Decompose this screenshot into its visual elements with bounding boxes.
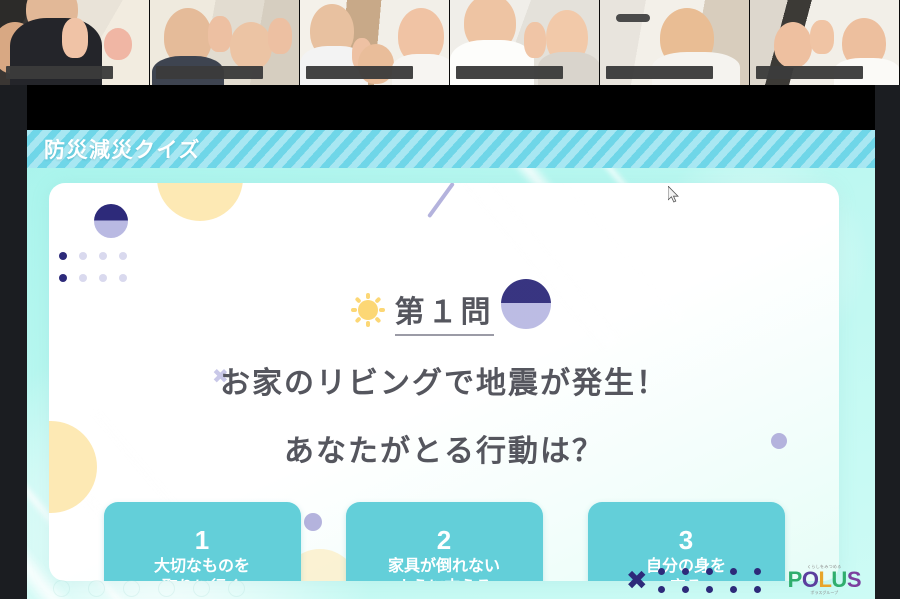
tile-5-ceiling-fan (616, 14, 650, 22)
answer-option-1[interactable]: 1 大切なものを 取りに行く (104, 502, 301, 581)
polus-logo: くらしをみつめる POLUS ポラスグループ (788, 565, 861, 595)
slide-content-card: ✖ 第１問 (49, 183, 839, 581)
grid-dot (119, 252, 127, 260)
polus-logo-subtitle: ポラスグループ (810, 591, 838, 595)
faint-icon-row (53, 580, 245, 597)
tile-4-peace-hand (524, 22, 546, 58)
faint-icon-3 (123, 580, 140, 597)
tile-6-person-a (774, 22, 812, 68)
footer-dot-grid (658, 568, 778, 593)
answer-1-line-1: 大切なものを (154, 556, 250, 577)
tile-5-name-bar (606, 66, 713, 79)
question-number-label: 第１問 (395, 287, 494, 336)
answer-2-number: 2 (437, 527, 451, 554)
participant-tile-2[interactable] (150, 0, 300, 85)
yellow-blob-top (157, 183, 243, 221)
question-line-2: あなたがとる行動は？ (49, 426, 839, 470)
faint-icon-4 (158, 580, 175, 597)
tile-6-name-bar (756, 66, 863, 79)
polus-letter-l: L (818, 567, 831, 592)
participant-tile-3[interactable] (300, 0, 450, 85)
participant-tile-6[interactable] (750, 0, 900, 85)
polus-letter-o: O (802, 567, 819, 592)
tile-2-peace-hand-b (268, 18, 292, 54)
polus-logo-word: POLUS (788, 569, 861, 591)
half-circle-decoration (94, 204, 128, 238)
answer-1-text: 大切なものを 取りに行く (154, 556, 250, 581)
tile-3-name-bar (306, 66, 413, 79)
participant-tile-1[interactable] (0, 0, 150, 85)
mouse-cursor-icon (668, 186, 680, 204)
faint-icon-1 (53, 580, 70, 597)
slide-banner: 防災減災クイズ (27, 130, 875, 168)
slide-footer: ✖ くらしをみつめる POLUS ポラスグループ (626, 565, 861, 595)
answer-option-2[interactable]: 2 家具が倒れない ように支える (346, 502, 543, 581)
grid-dot (59, 252, 67, 260)
grid-dot (99, 274, 107, 282)
tile-1-name-bar (6, 66, 113, 79)
footer-dot (730, 568, 737, 575)
grid-dot (99, 252, 107, 260)
faint-icon-5 (193, 580, 210, 597)
tile-6-peace-hand (810, 20, 834, 54)
grid-dot (79, 274, 87, 282)
screen-root: 防災減災クイズ (0, 0, 900, 599)
footer-dot (754, 586, 761, 593)
tile-1-baby (104, 28, 132, 60)
footer-dot (682, 586, 689, 593)
x-mark-icon: ✖ (626, 567, 648, 593)
grid-dot (119, 274, 127, 282)
footer-dot (754, 568, 761, 575)
answer-2-line-2: ように支える (388, 577, 500, 581)
footer-dot (658, 568, 665, 575)
dot-grid-decoration (59, 252, 139, 282)
faint-icon-2 (88, 580, 105, 597)
footer-dot (682, 568, 689, 575)
participant-video-strip (0, 0, 900, 85)
footer-dot (706, 586, 713, 593)
answer-2-text: 家具が倒れない ように支える (388, 556, 500, 581)
footer-dot (730, 586, 737, 593)
tile-2-name-bar (156, 66, 263, 79)
tick-decoration-top (427, 183, 455, 218)
participant-tile-5[interactable] (600, 0, 750, 85)
polus-letter-s: S (847, 567, 861, 592)
tile-4-name-bar (456, 66, 563, 79)
footer-dot (706, 568, 713, 575)
question-label-wrap: 第１問 (49, 287, 839, 336)
presentation-slide: 防災減災クイズ (27, 130, 875, 599)
answer-1-number: 1 (195, 527, 209, 554)
polus-letter-p: P (788, 567, 802, 592)
participant-tile-4[interactable] (450, 0, 600, 85)
question-line-1: お家のリビングで地震が発生！ (49, 358, 839, 402)
grid-dot (59, 274, 67, 282)
polus-letter-u: U (831, 567, 846, 592)
tile-2-peace-hand-a (208, 16, 232, 52)
answer-3-number: 3 (679, 527, 693, 554)
answer-2-line-1: 家具が倒れない (388, 556, 500, 577)
footer-dot (658, 586, 665, 593)
faint-icon-6 (228, 580, 245, 597)
tile-1-peace-hand (62, 18, 88, 58)
tile-2-person-b (230, 22, 272, 70)
shared-screen-region[interactable]: 防災減災クイズ (27, 85, 875, 599)
banner-title: 防災減災クイズ (44, 134, 201, 164)
grid-dot (79, 252, 87, 260)
